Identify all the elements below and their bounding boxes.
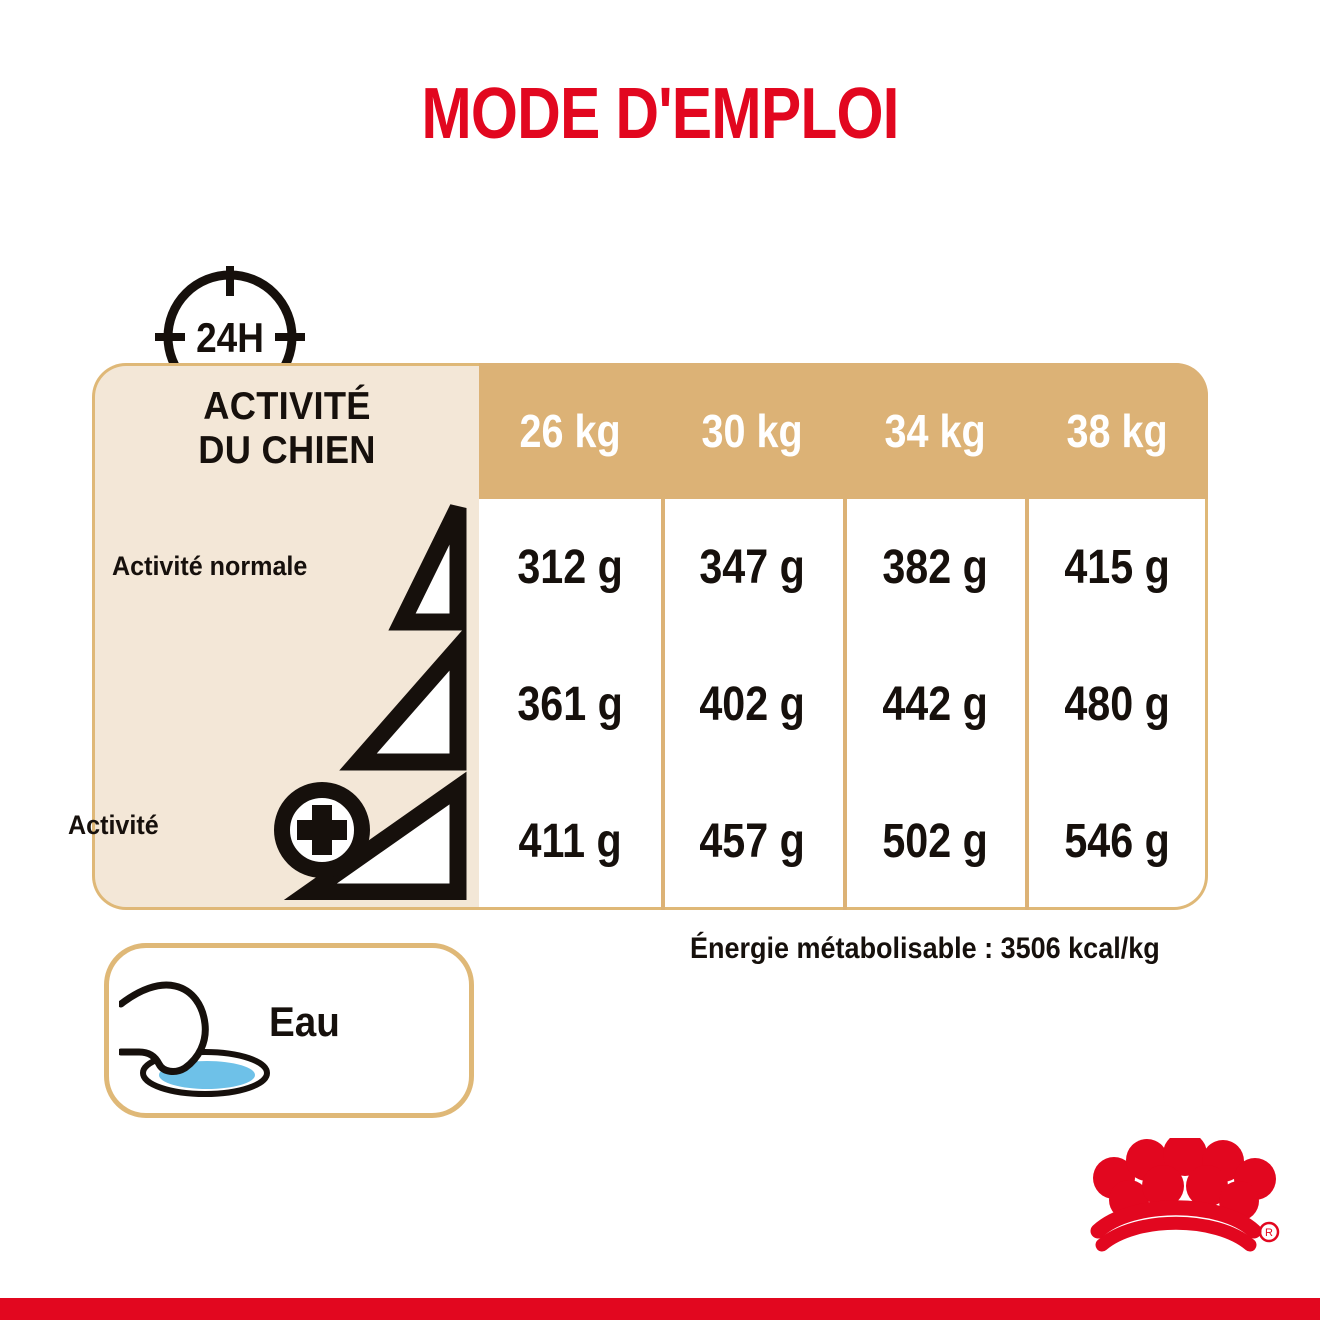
water-callout-box: Eau (104, 943, 474, 1118)
metabolisable-energy-note: Énergie métabolisable : 3506 kcal/kg (690, 932, 1160, 966)
table-cell: 546 g (1039, 773, 1196, 910)
table-column-headers: 26 kg 30 kg 34 kg 38 kg (479, 363, 1208, 499)
table-cell: 502 g (856, 773, 1013, 910)
table-cell: 361 g (492, 636, 649, 773)
row-header-title: ACTIVITÉ DU CHIEN (106, 385, 469, 472)
table-values-grid: 312 g 347 g 382 g 415 g 361 g 402 g 442 … (479, 499, 1208, 910)
table-cell: 457 g (674, 773, 831, 910)
column-header-38kg: 38 kg (1039, 404, 1196, 458)
row-label-plus-activity: Activité (68, 810, 159, 841)
table-cell: 411 g (492, 773, 649, 910)
table-cell: 347 g (674, 499, 831, 636)
table-cell: 312 g (492, 499, 649, 636)
row-header-title-line2: DU CHIEN (106, 429, 469, 473)
page-title: MODE D'EMPLOI (106, 78, 1215, 150)
bottom-red-bar (0, 1298, 1320, 1320)
row-header-title-line1: ACTIVITÉ (106, 385, 469, 429)
activity-level-pyramid-icon (262, 500, 492, 900)
royal-canin-crown-logo: R (1072, 1138, 1280, 1258)
registered-mark: R (1265, 1227, 1273, 1239)
table-cell: 480 g (1039, 636, 1196, 773)
clock-24h-label: 24H (196, 315, 264, 362)
water-label: Eau (269, 998, 453, 1046)
table-cell: 402 g (674, 636, 831, 773)
column-header-26kg: 26 kg (492, 404, 649, 458)
column-header-30kg: 30 kg (674, 404, 831, 458)
table-cell: 382 g (856, 499, 1013, 636)
column-header-34kg: 34 kg (856, 404, 1013, 458)
feeding-table: 26 kg 30 kg 34 kg 38 kg ACTIVITÉ DU CHIE… (92, 363, 1208, 910)
table-cell: 415 g (1039, 499, 1196, 636)
clock-24h-icon: 24H (155, 262, 305, 374)
table-cell: 442 g (856, 636, 1013, 773)
